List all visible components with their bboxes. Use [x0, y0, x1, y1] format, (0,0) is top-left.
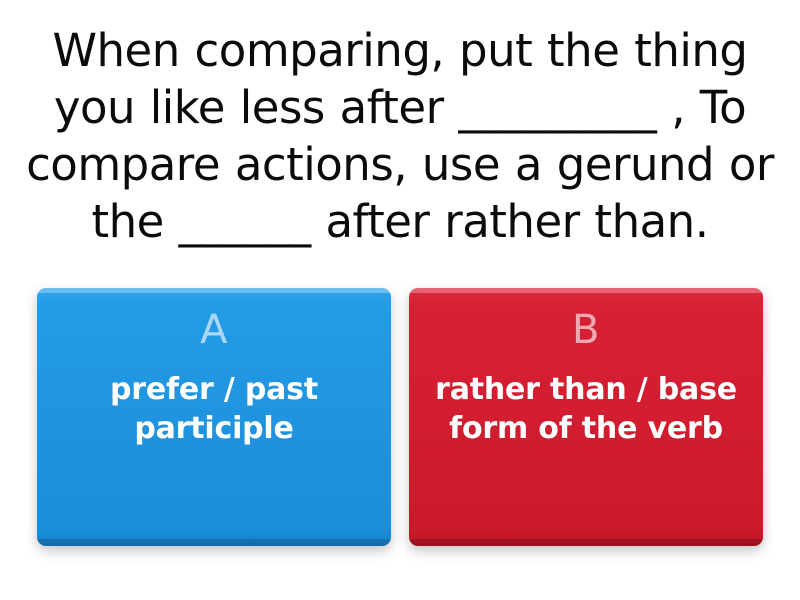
- answer-option-b-letter: B: [572, 308, 600, 352]
- answer-option-a-text: prefer / past participle: [37, 370, 391, 448]
- answer-options-row: A prefer / past participle B rather than…: [0, 288, 800, 568]
- answer-option-a-letter: A: [200, 308, 228, 352]
- answer-option-b[interactable]: B rather than / base form of the verb: [409, 288, 763, 546]
- question-text: When comparing, put the thing you like l…: [20, 22, 780, 250]
- question-area: When comparing, put the thing you like l…: [0, 22, 800, 250]
- answer-option-b-text: rather than / base form of the verb: [409, 370, 763, 448]
- quiz-screen: When comparing, put the thing you like l…: [0, 0, 800, 600]
- answer-option-a[interactable]: A prefer / past participle: [37, 288, 391, 546]
